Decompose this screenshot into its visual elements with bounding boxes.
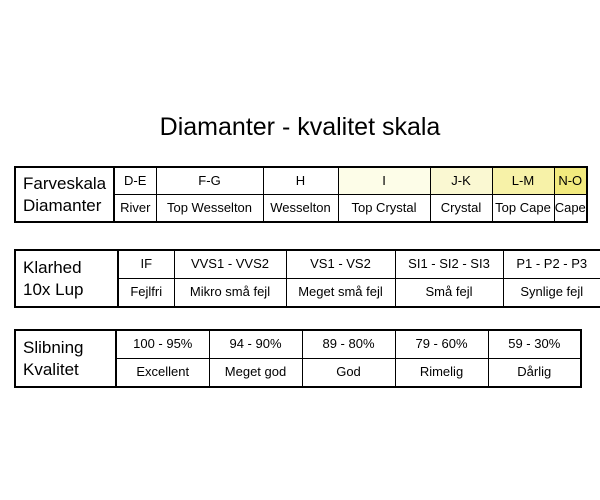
row-label-cut: SlibningKvalitet: [15, 330, 116, 387]
grade-cell-color-3: I: [338, 167, 430, 195]
name-cell-color-2: Wesselton: [263, 195, 338, 223]
name-cell-color-4: Crystal: [430, 195, 492, 223]
grade-cell-clarity-0: IF: [118, 250, 174, 279]
table-klarhed-body: Klarhed10x LupIFVVS1 - VVS2VS1 - VS2SI1 …: [15, 250, 600, 307]
table-row: FarveskalaDiamanterD-EF-GHIJ-KL-MN-O: [15, 167, 587, 195]
table-row: SlibningKvalitet100 - 95%94 - 90%89 - 80…: [15, 330, 581, 359]
name-cell-clarity-1: Mikro små fejl: [174, 279, 286, 308]
table-farveskala-diamanter: FarveskalaDiamanterD-EF-GHIJ-KL-MN-ORive…: [14, 166, 588, 223]
grade-cell-clarity-2: VS1 - VS2: [286, 250, 395, 279]
row-label-line: Kvalitet: [23, 359, 109, 380]
grade-cell-cut-2: 89 - 80%: [302, 330, 395, 359]
name-cell-clarity-3: Små fejl: [395, 279, 503, 308]
grade-cell-color-2: H: [263, 167, 338, 195]
name-cell-cut-1: Meget god: [209, 359, 302, 388]
table-farveskala-body: FarveskalaDiamanterD-EF-GHIJ-KL-MN-ORive…: [15, 167, 587, 222]
grade-cell-clarity-1: VVS1 - VVS2: [174, 250, 286, 279]
name-cell-color-3: Top Crystal: [338, 195, 430, 223]
grade-cell-cut-0: 100 - 95%: [116, 330, 209, 359]
grade-cell-color-4: J-K: [430, 167, 492, 195]
grade-cell-cut-3: 79 - 60%: [395, 330, 488, 359]
name-cell-clarity-0: Fejlfri: [118, 279, 174, 308]
name-cell-color-0: River: [114, 195, 156, 223]
row-label-clarity: Klarhed10x Lup: [15, 250, 118, 307]
page-title: Diamanter - kvalitet skala: [0, 113, 600, 142]
table-row: Klarhed10x LupIFVVS1 - VVS2VS1 - VS2SI1 …: [15, 250, 600, 279]
diamond-quality-scale-page: Diamanter - kvalitet skala FarveskalaDia…: [0, 0, 600, 500]
grade-cell-color-0: D-E: [114, 167, 156, 195]
name-cell-clarity-2: Meget små fejl: [286, 279, 395, 308]
name-cell-cut-0: Excellent: [116, 359, 209, 388]
name-cell-cut-3: Rimelig: [395, 359, 488, 388]
name-cell-cut-2: God: [302, 359, 395, 388]
name-cell-color-1: Top Wesselton: [156, 195, 263, 223]
row-label-color: FarveskalaDiamanter: [15, 167, 114, 222]
grade-cell-cut-1: 94 - 90%: [209, 330, 302, 359]
row-label-line: Diamanter: [23, 195, 107, 216]
grade-cell-color-6: N-O: [554, 167, 587, 195]
grade-cell-clarity-3: SI1 - SI2 - SI3: [395, 250, 503, 279]
row-label-line: 10x Lup: [23, 279, 111, 300]
table-slibning-kvalitet: SlibningKvalitet100 - 95%94 - 90%89 - 80…: [14, 329, 582, 388]
name-cell-clarity-4: Synlige fejl: [503, 279, 600, 308]
row-label-line: Farveskala: [23, 173, 107, 194]
name-cell-cut-4: Dårlig: [488, 359, 581, 388]
grade-cell-color-1: F-G: [156, 167, 263, 195]
grade-cell-cut-4: 59 - 30%: [488, 330, 581, 359]
name-cell-color-5: Top Cape: [492, 195, 554, 223]
grade-cell-color-5: L-M: [492, 167, 554, 195]
table-klarhed-10x-lup: Klarhed10x LupIFVVS1 - VVS2VS1 - VS2SI1 …: [14, 249, 600, 308]
row-label-line: Klarhed: [23, 257, 111, 278]
row-label-line: Slibning: [23, 337, 109, 358]
table-slibning-body: SlibningKvalitet100 - 95%94 - 90%89 - 80…: [15, 330, 581, 387]
name-cell-color-6: Cape: [554, 195, 587, 223]
grade-cell-clarity-4: P1 - P2 - P3: [503, 250, 600, 279]
